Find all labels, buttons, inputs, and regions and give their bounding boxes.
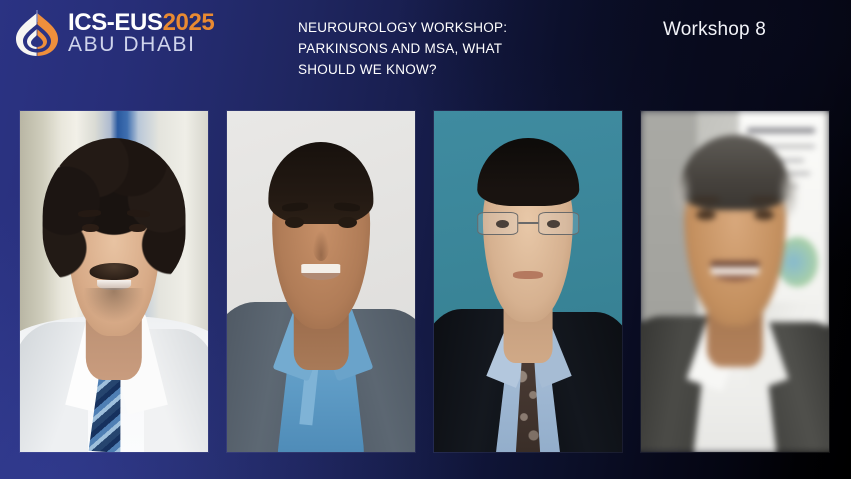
workshop-title-line-1: NEUROUROLOGY WORKSHOP: bbox=[298, 17, 598, 38]
conference-slide: ICS-EUS2025 ABU DHABI NEUROUROLOGY WORKS… bbox=[0, 0, 851, 479]
speaker-photo-3 bbox=[434, 111, 622, 452]
workshop-title: NEUROUROLOGY WORKSHOP: PARKINSONS AND MS… bbox=[298, 17, 598, 80]
logo-brand-city: ABU DHABI bbox=[68, 34, 214, 56]
workshop-title-line-3: SHOULD WE KNOW? bbox=[298, 59, 598, 80]
speaker-photo-2 bbox=[227, 111, 415, 452]
workshop-number-label: Workshop 8 bbox=[663, 19, 766, 41]
workshop-title-line-2: PARKINSONS AND MSA, WHAT bbox=[298, 38, 598, 59]
speaker-photo-4 bbox=[641, 111, 829, 452]
speaker-photo-1 bbox=[20, 111, 208, 452]
ics-eus-flame-logo-icon bbox=[14, 10, 60, 58]
logo-wordmark: ICS-EUS2025 ABU DHABI bbox=[68, 11, 214, 56]
logo-brand-primary: ICS-EUS bbox=[68, 9, 163, 36]
logo-brand-year: 2025 bbox=[163, 9, 215, 36]
speaker-photo-strip bbox=[20, 111, 832, 452]
ics-eus-logo: ICS-EUS2025 ABU DHABI bbox=[14, 10, 214, 58]
